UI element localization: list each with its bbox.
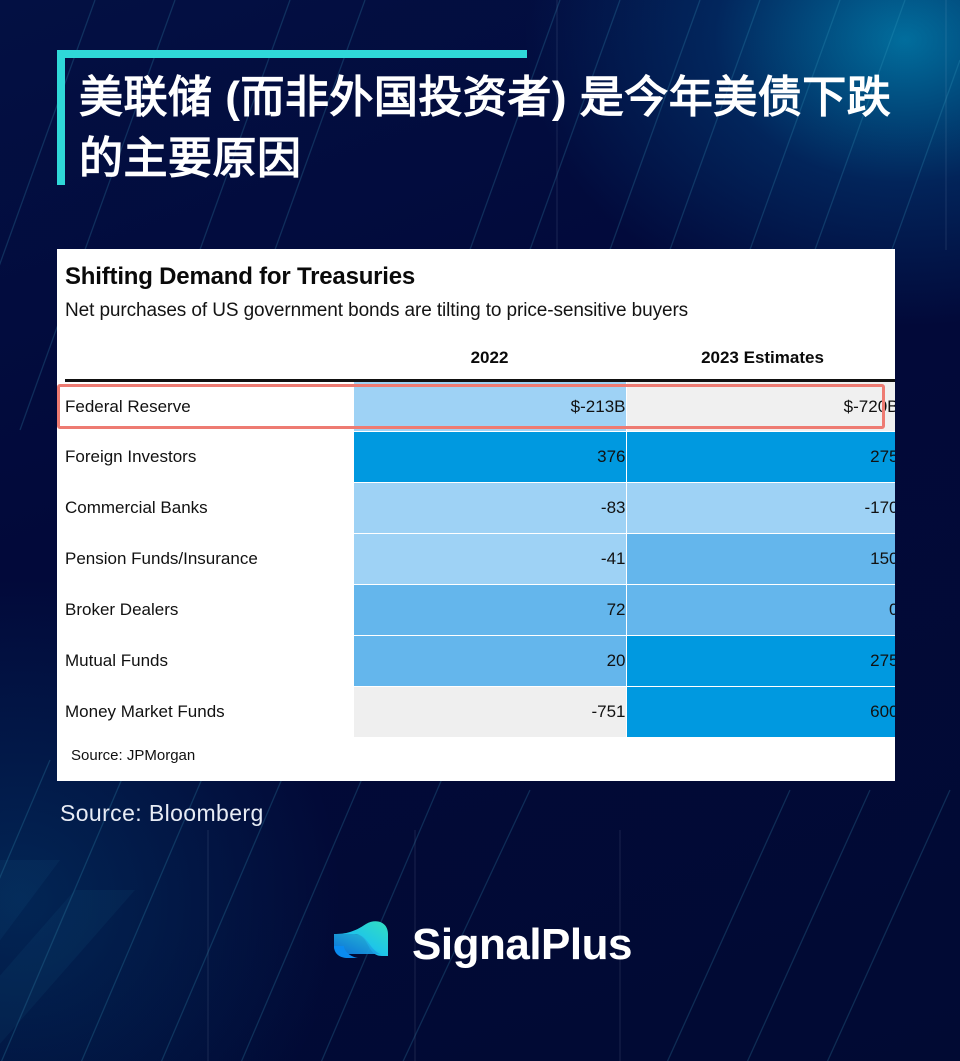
signalplus-wave-logo-icon: [328, 912, 394, 978]
table-row: Federal Reserve$-213B$-720B: [65, 381, 895, 432]
brand-name: SignalPlus: [412, 920, 632, 970]
heatmap-cell: -83: [353, 483, 626, 534]
heatmap-table: 2022 2023 Estimates Federal Reserve$-213…: [65, 348, 895, 738]
row-label: Commercial Banks: [65, 483, 353, 534]
chart-title: Shifting Demand for Treasuries: [65, 263, 887, 291]
column-header-label: [65, 348, 353, 381]
row-label: Pension Funds/Insurance: [65, 534, 353, 585]
row-label: Federal Reserve: [65, 381, 353, 432]
heatmap-cell: -751: [353, 687, 626, 738]
heatmap-cell: 72: [353, 585, 626, 636]
heatmap-cell: 150: [626, 534, 895, 585]
table-row: Commercial Banks-83-170: [65, 483, 895, 534]
source-bloomberg: Source: Bloomberg: [60, 800, 264, 827]
brand-logo: SignalPlus: [0, 912, 960, 978]
headline-block: 美联储 (而非外国投资者) 是今年美债下跌的主要原因: [57, 50, 917, 189]
row-label: Foreign Investors: [65, 432, 353, 483]
chart-subtitle: Net purchases of US government bonds are…: [65, 300, 887, 322]
heatmap-cell: 0: [626, 585, 895, 636]
heatmap-cell: 376: [353, 432, 626, 483]
page-title: 美联储 (而非外国投资者) 是今年美债下跌的主要原因: [79, 50, 917, 189]
table-header: 2022 2023 Estimates: [65, 348, 895, 381]
column-header-2023: 2023 Estimates: [626, 348, 895, 381]
heatmap-cell: 600: [626, 687, 895, 738]
heatmap-cell: 275: [626, 636, 895, 687]
chart-card: Shifting Demand for Treasuries Net purch…: [57, 249, 895, 781]
heatmap-cell: -41: [353, 534, 626, 585]
accent-bar-left: [57, 50, 65, 185]
table-header-row: 2022 2023 Estimates: [65, 348, 895, 381]
table-row: Foreign Investors376275: [65, 432, 895, 483]
heatmap-cell: -170: [626, 483, 895, 534]
column-header-2022: 2022: [353, 348, 626, 381]
row-label: Broker Dealers: [65, 585, 353, 636]
table-body: Federal Reserve$-213B$-720BForeign Inves…: [65, 381, 895, 738]
heatmap-cell: 20: [353, 636, 626, 687]
table-row: Broker Dealers720: [65, 585, 895, 636]
accent-bar-top: [57, 50, 527, 58]
chart-source: Source: JPMorgan: [65, 747, 887, 764]
table-row: Money Market Funds-751600: [65, 687, 895, 738]
table-row: Pension Funds/Insurance-41150: [65, 534, 895, 585]
row-label: Mutual Funds: [65, 636, 353, 687]
row-label: Money Market Funds: [65, 687, 353, 738]
heatmap-cell: $-720B: [626, 381, 895, 432]
table-row: Mutual Funds20275: [65, 636, 895, 687]
heatmap-cell: 275: [626, 432, 895, 483]
heatmap-cell: $-213B: [353, 381, 626, 432]
